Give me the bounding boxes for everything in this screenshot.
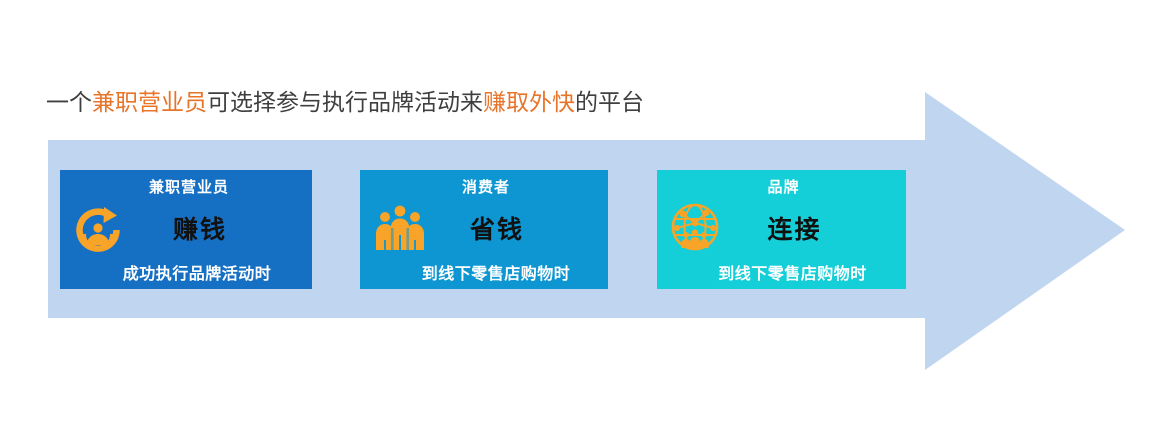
card-main-label: 连接: [657, 210, 906, 246]
card-header-label: 兼职营业员: [60, 176, 312, 197]
title-segment-5: 的平台: [575, 90, 644, 116]
card-brand[interactable]: 品牌 连接 到线下零售店购物时: [657, 170, 906, 289]
title-segment-4-accent: 赚取外快: [483, 90, 575, 116]
title-segment-1: 一个: [46, 90, 92, 116]
card-header-label: 品牌: [657, 176, 906, 197]
card-header-label: 消费者: [360, 176, 608, 197]
card-main-label: 赚钱: [60, 210, 312, 246]
card-main-label: 省钱: [360, 210, 608, 246]
title-segment-2-accent: 兼职营业员: [92, 90, 207, 116]
page-title: 一个兼职营业员可选择参与执行品牌活动来赚取外快的平台: [46, 88, 644, 118]
card-footer-label: 到线下零售店购物时: [657, 260, 906, 284]
slide-canvas: 一个兼职营业员可选择参与执行品牌活动来赚取外快的平台 兼职营业员 赚钱 成功执行…: [0, 0, 1150, 430]
card-footer-label: 成功执行品牌活动时: [60, 260, 312, 284]
card-consumer[interactable]: 消费者 省钱 到线下零售店购物时: [360, 170, 608, 289]
card-part-time-clerk[interactable]: 兼职营业员 赚钱 成功执行品牌活动时: [60, 170, 312, 289]
title-segment-3: 可选择参与执行品牌活动来: [207, 90, 483, 116]
card-footer-label: 到线下零售店购物时: [360, 260, 608, 284]
